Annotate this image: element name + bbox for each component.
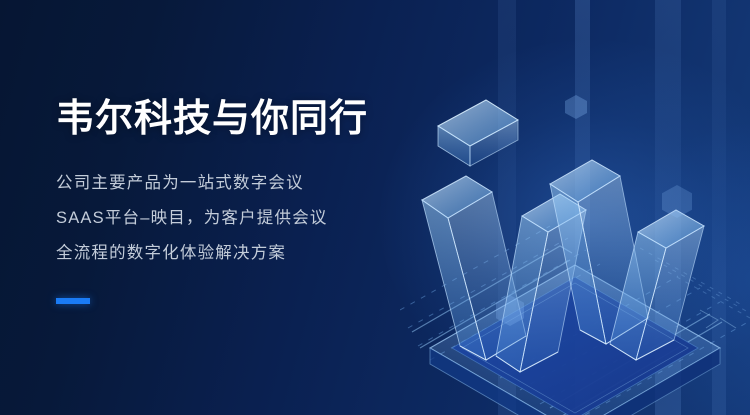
hero-text-block: 韦尔科技与你同行 公司主要产品为一站式数字会议 SAAS平台–映目，为客户提供会… (56, 96, 436, 304)
subtitle-line-1: 公司主要产品为一站式数字会议 (56, 166, 436, 201)
accent-divider (56, 298, 90, 304)
hero-banner: 韦尔科技与你同行 公司主要产品为一站式数字会议 SAAS平台–映目，为客户提供会… (0, 0, 750, 415)
isometric-graphic (400, 60, 750, 415)
subtitle-line-3: 全流程的数字化体验解决方案 (56, 236, 436, 271)
page-title: 韦尔科技与你同行 (56, 96, 436, 142)
subtitle-line-2: SAAS平台–映目，为客户提供会议 (56, 201, 436, 236)
subtitle-block: 公司主要产品为一站式数字会议 SAAS平台–映目，为客户提供会议 全流程的数字化… (56, 166, 436, 271)
